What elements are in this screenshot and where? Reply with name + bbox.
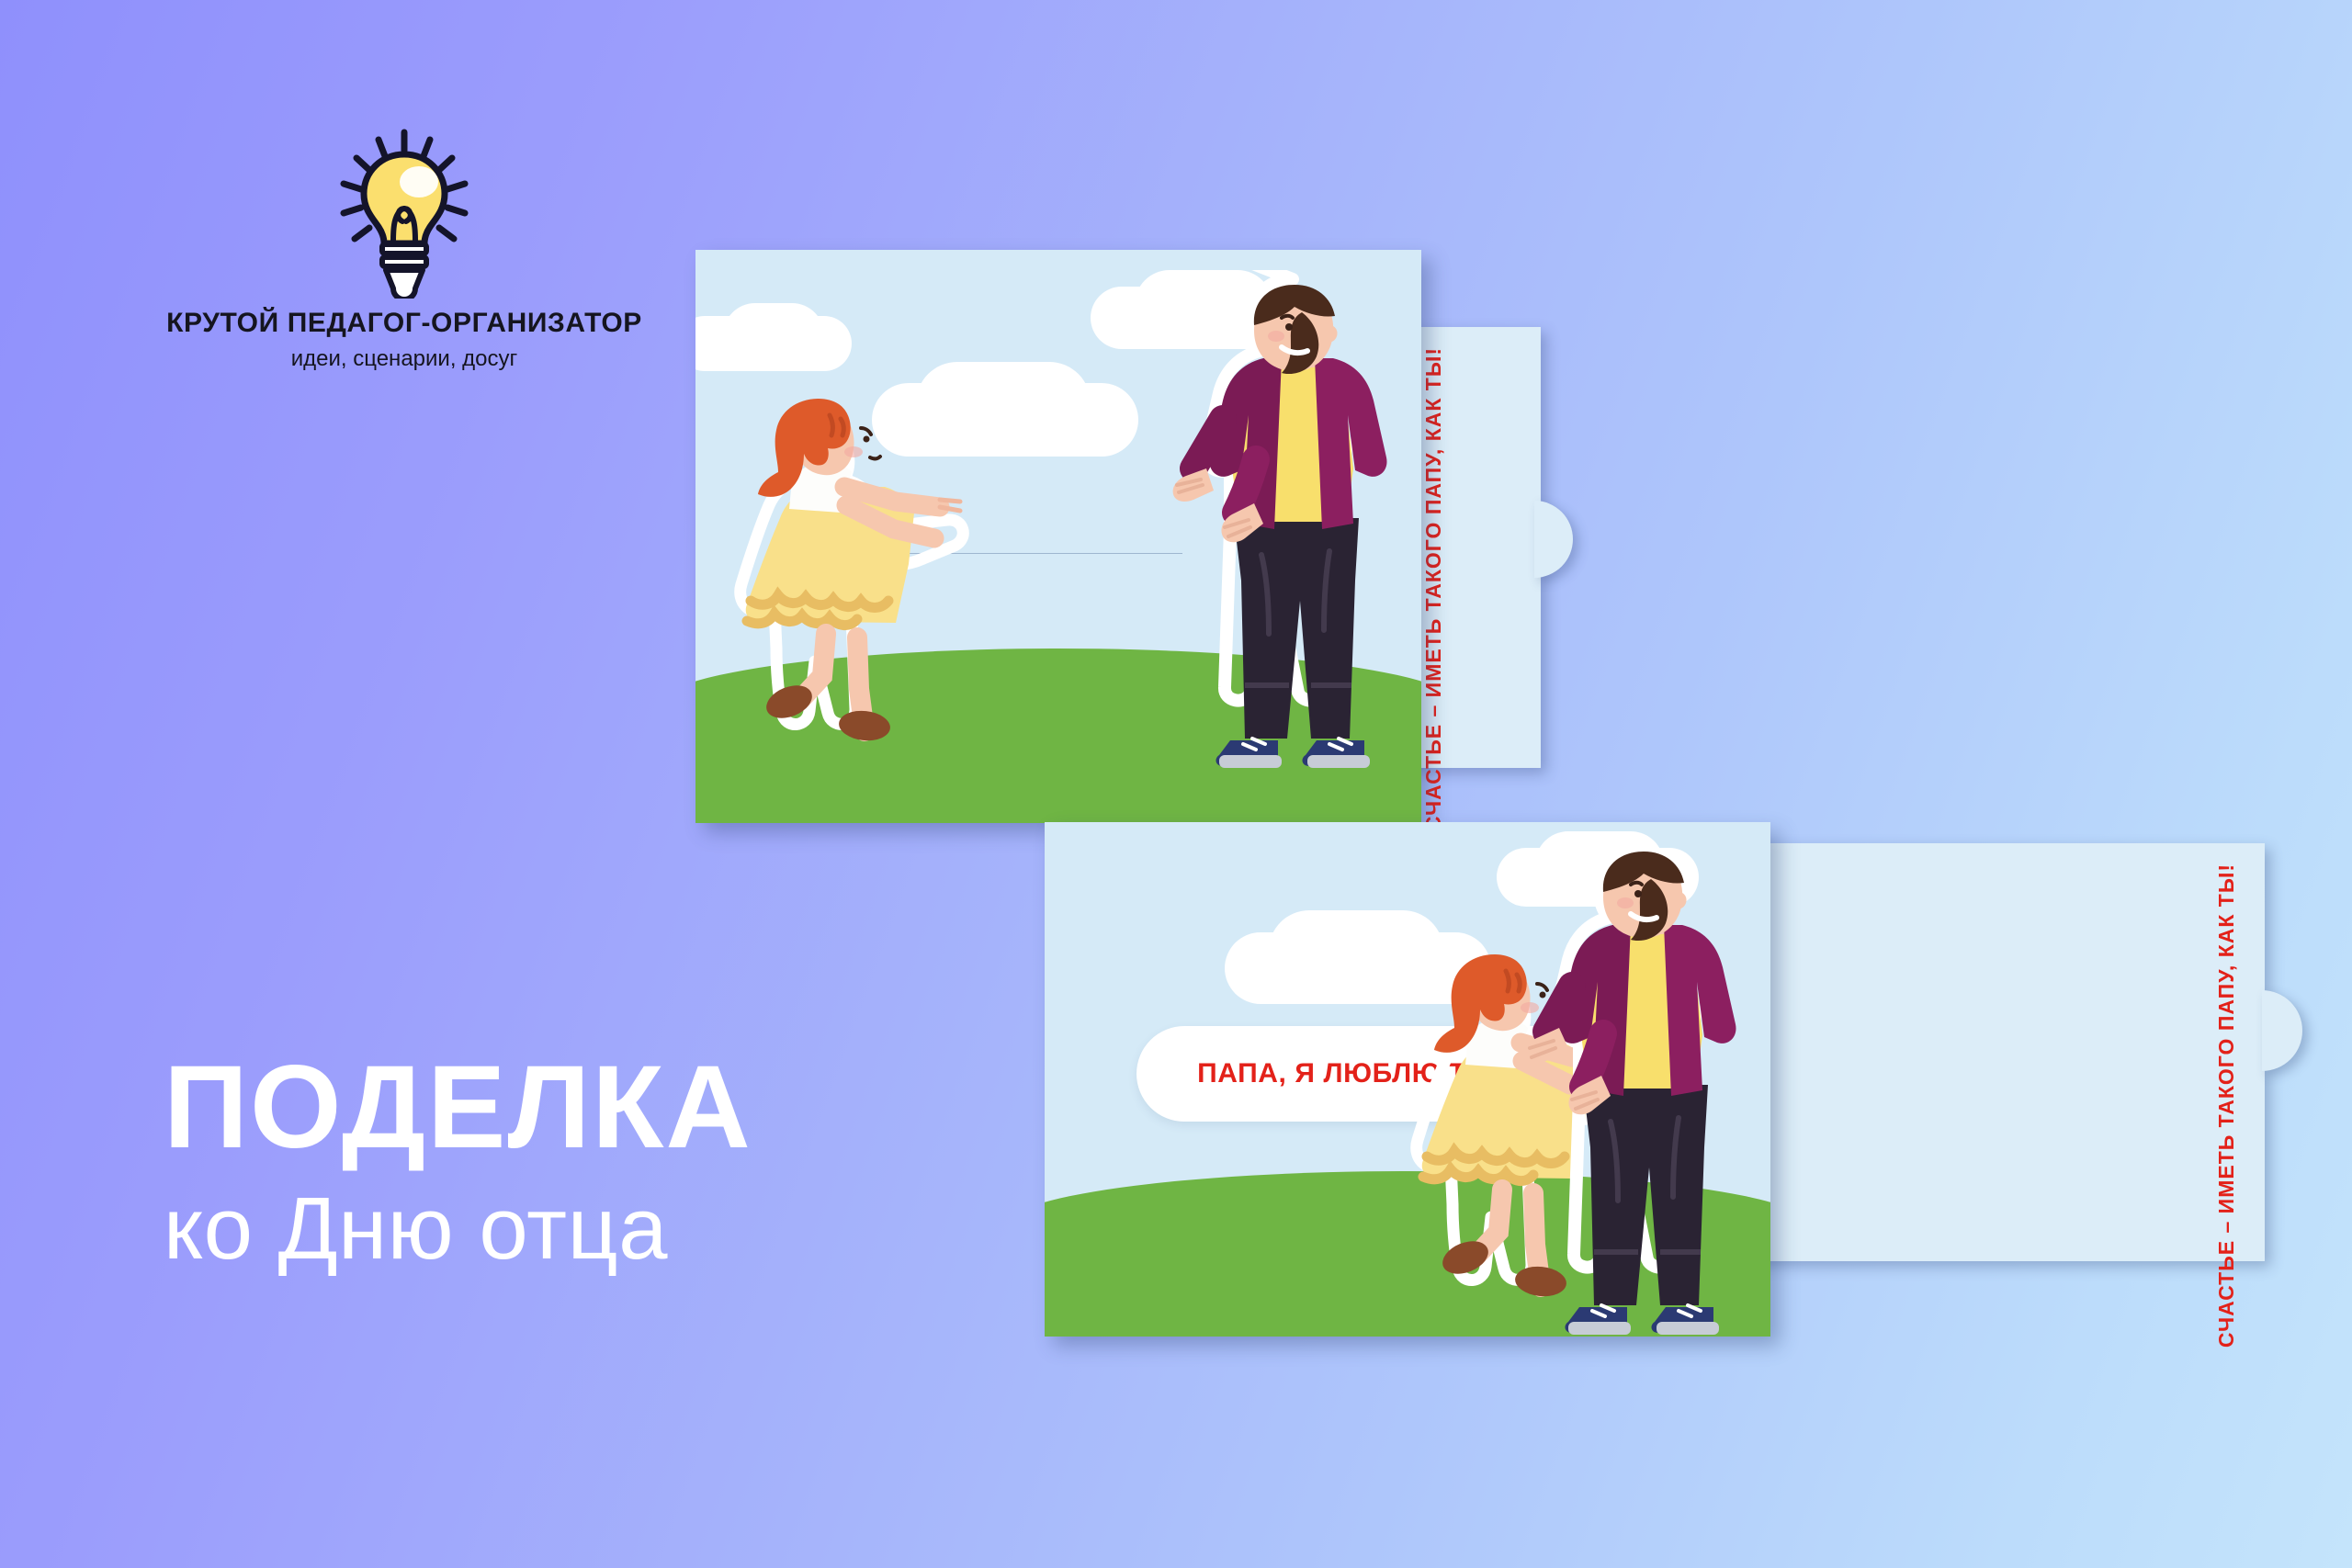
figure-father-standing [1155, 270, 1421, 784]
headline-line-2: ко Дню отца [164, 1183, 752, 1276]
poster-canvas: КРУТОЙ ПЕДАГОГ-ОРГАНИЗАТОР идеи, сценари… [0, 0, 2352, 1568]
card-bottom-pull-tab[interactable]: СЧАСТЬЕ – ИМЕТЬ ТАКОГО ПАПУ, КАК ТЫ! [1750, 843, 2265, 1261]
card-bottom-body[interactable]: ПАПА, Я ЛЮБЛЮ ТЕБЯ! [1045, 822, 1770, 1337]
card-bottom-pull-tab-knob[interactable] [2262, 990, 2302, 1071]
logo-title: КРУТОЙ ПЕДАГОГ-ОРГАНИЗАТОР [165, 308, 643, 339]
cloud-icon [723, 303, 824, 367]
headline-line-1: ПОДЕЛКА [164, 1049, 752, 1167]
page-title: ПОДЕЛКА ко Дню отца [164, 1049, 752, 1276]
card-top-pull-tab[interactable]: СЧАСТЬЕ – ИМЕТЬ ТАКОГО ПАПУ, КАК ТЫ! [1401, 327, 1541, 768]
logo-subtitle: идеи, сценарии, досуг [165, 346, 643, 372]
card-top-pull-tab-knob[interactable] [1534, 501, 1573, 578]
figure-father-hugging [1504, 837, 1770, 1337]
figure-girl-reaching [723, 388, 989, 746]
card-top-body[interactable] [695, 250, 1421, 823]
lightbulb-icon [331, 129, 478, 299]
brand-logo: КРУТОЙ ПЕДАГОГ-ОРГАНИЗАТОР идеи, сценари… [165, 129, 643, 372]
card-bottom-pull-tab-text: СЧАСТЬЕ – ИМЕТЬ ТАКОГО ПАПУ, КАК ТЫ! [2214, 863, 2239, 1348]
card-top-pull-tab-text: СЧАСТЬЕ – ИМЕТЬ ТАКОГО ПАПУ, КАК ТЫ! [1421, 347, 1446, 831]
